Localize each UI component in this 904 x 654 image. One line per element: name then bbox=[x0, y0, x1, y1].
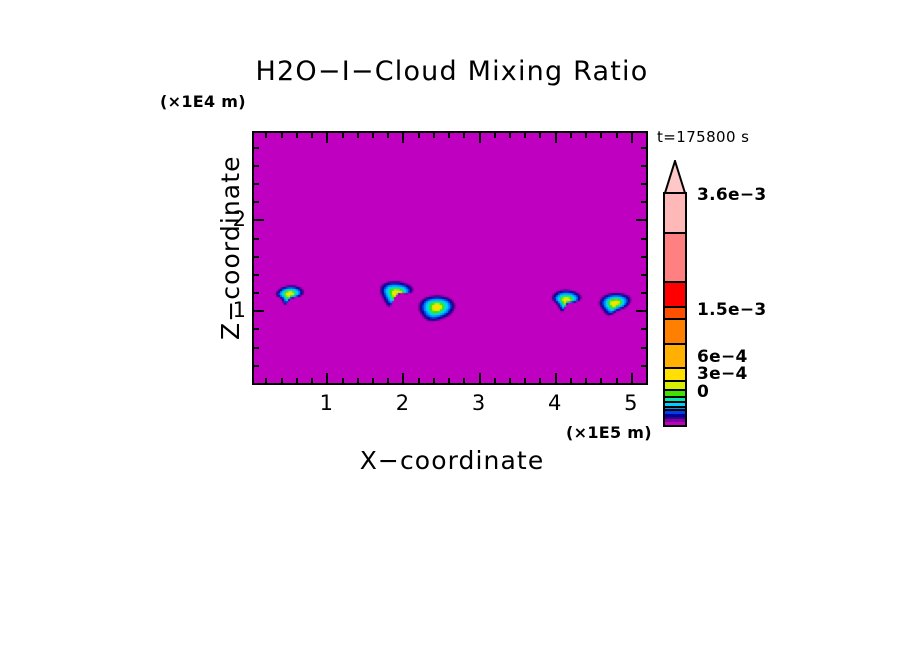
tick-mark bbox=[524, 133, 526, 138]
colorbar-separator bbox=[665, 281, 685, 283]
tick-mark bbox=[296, 378, 298, 383]
tick-mark bbox=[600, 378, 602, 383]
tick-mark bbox=[281, 378, 283, 383]
tick-mark bbox=[631, 373, 633, 383]
tick-mark bbox=[402, 373, 404, 383]
colorbar-separator bbox=[665, 318, 685, 320]
colorbar-separator bbox=[665, 396, 685, 398]
tick-mark bbox=[311, 133, 313, 138]
tick-mark bbox=[254, 256, 259, 258]
tick-mark bbox=[254, 274, 259, 276]
tick-mark bbox=[254, 383, 259, 385]
tick-mark bbox=[641, 256, 646, 258]
x-axis-title: X−coordinate bbox=[0, 446, 904, 475]
tick-mark bbox=[254, 147, 259, 149]
tick-mark bbox=[641, 201, 646, 203]
colorbar-extend-arrow-icon bbox=[663, 160, 687, 194]
tick-mark bbox=[636, 310, 646, 312]
tick-mark bbox=[387, 378, 389, 383]
tick-mark bbox=[372, 133, 374, 138]
colorbar-separator bbox=[665, 409, 685, 411]
colorbar-band bbox=[665, 233, 685, 282]
x-tick-label: 2 bbox=[396, 391, 409, 415]
tick-mark bbox=[509, 133, 511, 138]
page-title: H2O−I−Cloud Mixing Ratio bbox=[0, 56, 904, 87]
colorbar-band bbox=[665, 282, 685, 307]
tick-mark bbox=[254, 238, 259, 240]
tick-mark bbox=[254, 165, 259, 167]
tick-mark bbox=[265, 133, 267, 138]
x-tick-label: 1 bbox=[320, 391, 333, 415]
tick-mark bbox=[418, 378, 420, 383]
tick-mark bbox=[641, 238, 646, 240]
time-annotation: t=175800 s bbox=[657, 128, 749, 146]
tick-mark bbox=[555, 373, 557, 383]
colorbar-bands bbox=[663, 192, 687, 427]
tick-mark bbox=[357, 133, 359, 138]
tick-mark bbox=[342, 133, 344, 138]
tick-mark bbox=[631, 133, 633, 143]
x-tick-label: 3 bbox=[472, 391, 485, 415]
tick-mark bbox=[641, 183, 646, 185]
tick-mark bbox=[254, 201, 259, 203]
tick-mark bbox=[616, 378, 618, 383]
tick-mark bbox=[479, 373, 481, 383]
x-tick-label: 5 bbox=[624, 391, 637, 415]
colorbar-tick-label: 0 bbox=[697, 382, 709, 402]
colorbar-separator bbox=[665, 406, 685, 408]
colorbar-tick-label: 3e−4 bbox=[697, 364, 748, 384]
x-tick-label: 4 bbox=[548, 391, 561, 415]
tick-mark bbox=[402, 133, 404, 143]
tick-mark bbox=[524, 378, 526, 383]
tick-mark bbox=[357, 378, 359, 383]
tick-mark bbox=[281, 133, 283, 138]
tick-mark bbox=[646, 378, 648, 383]
tick-mark bbox=[570, 378, 572, 383]
colorbar-tick-label: 3.6e−3 bbox=[697, 185, 767, 205]
tick-mark bbox=[254, 292, 259, 294]
tick-mark bbox=[326, 133, 328, 143]
tick-mark bbox=[509, 378, 511, 383]
tick-mark bbox=[585, 133, 587, 138]
tick-mark bbox=[463, 133, 465, 138]
tick-mark bbox=[254, 183, 259, 185]
y-tick-label: 1 bbox=[224, 298, 246, 322]
colorbar-separator bbox=[665, 232, 685, 234]
figure-canvas: H2O−I−Cloud Mixing Ratio (×1E4 m) (×1E5 … bbox=[0, 0, 904, 654]
tick-mark bbox=[641, 328, 646, 330]
tick-mark bbox=[641, 274, 646, 276]
tick-mark bbox=[616, 133, 618, 138]
tick-mark bbox=[555, 133, 557, 143]
tick-mark bbox=[641, 347, 646, 349]
tick-mark bbox=[600, 133, 602, 138]
tick-mark bbox=[494, 378, 496, 383]
colorbar-separator bbox=[665, 306, 685, 308]
tick-mark bbox=[646, 133, 648, 138]
x-axis-units-label: (×1E5 m) bbox=[566, 423, 652, 442]
tick-mark bbox=[448, 133, 450, 138]
tick-mark bbox=[296, 133, 298, 138]
colorbar-separator bbox=[665, 401, 685, 403]
colorbar-tick-label: 1.5e−3 bbox=[697, 300, 767, 320]
colorbar-separator bbox=[665, 389, 685, 391]
tick-mark bbox=[265, 378, 267, 383]
colorbar-band bbox=[665, 344, 685, 369]
tick-mark bbox=[641, 165, 646, 167]
tick-mark bbox=[254, 365, 259, 367]
tick-mark bbox=[387, 133, 389, 138]
tick-mark bbox=[539, 133, 541, 138]
colorbar-separator bbox=[665, 380, 685, 382]
contour-field bbox=[254, 133, 646, 383]
tick-mark bbox=[311, 378, 313, 383]
tick-mark bbox=[641, 383, 646, 385]
y-tick-label: 2 bbox=[224, 207, 246, 231]
tick-mark bbox=[254, 328, 259, 330]
plot-area bbox=[252, 131, 648, 385]
tick-mark bbox=[494, 133, 496, 138]
tick-mark bbox=[342, 378, 344, 383]
tick-mark bbox=[372, 378, 374, 383]
tick-mark bbox=[585, 378, 587, 383]
tick-mark bbox=[254, 310, 264, 312]
tick-mark bbox=[539, 378, 541, 383]
tick-mark bbox=[570, 133, 572, 138]
tick-mark bbox=[433, 378, 435, 383]
colorbar-band bbox=[665, 194, 685, 234]
tick-mark bbox=[254, 347, 259, 349]
tick-mark bbox=[433, 133, 435, 138]
tick-mark bbox=[326, 373, 328, 383]
colorbar-separator bbox=[665, 343, 685, 345]
y-axis-units-label: (×1E4 m) bbox=[160, 92, 246, 111]
tick-mark bbox=[448, 378, 450, 383]
tick-mark bbox=[641, 292, 646, 294]
tick-mark bbox=[479, 133, 481, 143]
tick-mark bbox=[641, 147, 646, 149]
tick-mark bbox=[641, 365, 646, 367]
tick-mark bbox=[418, 133, 420, 138]
tick-mark bbox=[254, 219, 264, 221]
colorbar-band bbox=[665, 319, 685, 344]
tick-mark bbox=[636, 219, 646, 221]
colorbar-separator bbox=[665, 367, 685, 369]
tick-mark bbox=[463, 378, 465, 383]
colorbar-band bbox=[665, 422, 685, 425]
